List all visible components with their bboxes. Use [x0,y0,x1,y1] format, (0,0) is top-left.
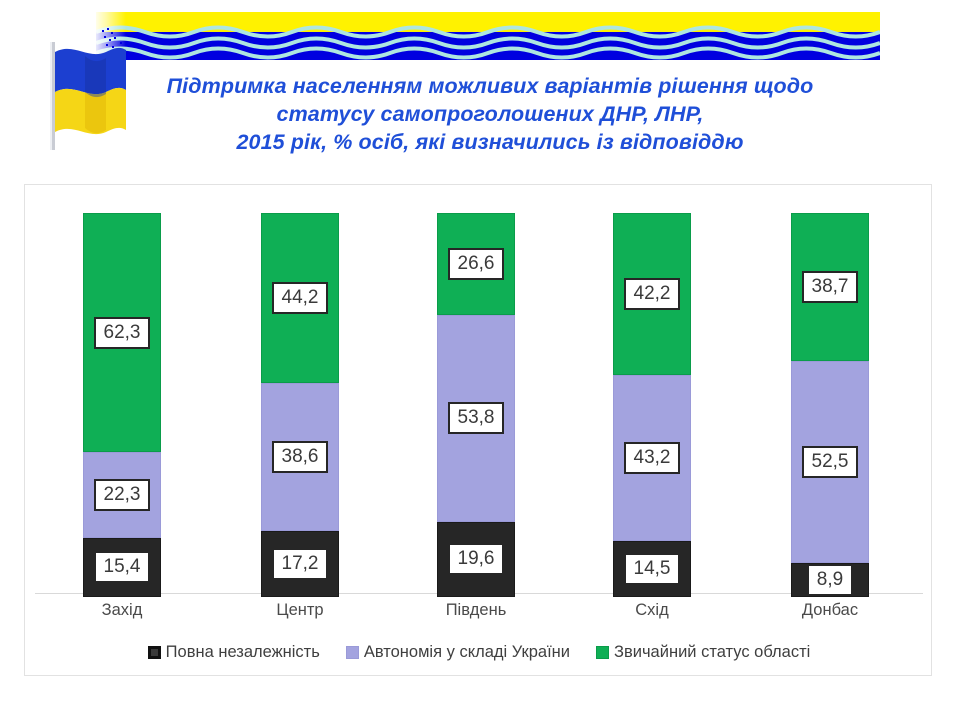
title-line-2: статусу самопроголошених ДНР, ЛНР, [110,100,870,128]
bar-segment[interactable]: 38,6 [261,383,339,531]
bar-segment[interactable]: 42,2 [613,213,691,375]
legend-label: Автономія у складі України [364,643,570,662]
bar-group-2[interactable]: 17,238,644,2 [261,213,339,597]
bar-segment[interactable]: 17,2 [261,531,339,597]
bar-value-label: 26,6 [448,248,505,280]
page-title: Підтримка населенням можливих варіантів … [110,72,870,156]
chart-legend: Повна незалежністьАвтономія у складі Укр… [25,637,933,667]
legend-swatch-icon [346,646,359,659]
legend-item-2[interactable]: Автономія у складі України [346,643,570,662]
legend-item-1[interactable]: Повна незалежність [148,643,320,662]
bar-value-label: 52,5 [802,446,859,478]
bar-value-label: 14,5 [624,553,681,585]
bar-segment[interactable]: 19,6 [437,522,515,597]
title-line-1: Підтримка населенням можливих варіантів … [110,72,870,100]
bar-value-label: 62,3 [94,317,151,349]
bar-group-4[interactable]: 14,543,242,2 [613,213,691,597]
bar-value-label: 42,2 [624,278,681,310]
legend-swatch-icon [596,646,609,659]
bar-segment[interactable]: 52,5 [791,361,869,563]
category-label-5: Донбас [760,601,900,620]
bar-segment[interactable]: 14,5 [613,541,691,597]
bar-group-1[interactable]: 15,422,362,3 [83,213,161,597]
plot-area: 15,422,362,317,238,644,219,653,826,614,5… [25,185,933,597]
bar-segment[interactable]: 53,8 [437,315,515,522]
banner-wave-lines [96,12,880,60]
chart-panel: 15,422,362,317,238,644,219,653,826,614,5… [24,184,932,676]
bar-value-label: 38,6 [272,441,329,473]
category-label-4: Схід [582,601,722,620]
bar-group-5[interactable]: 8,952,538,7 [791,213,869,597]
bar-segment[interactable]: 22,3 [83,452,161,538]
bar-value-label: 8,9 [807,564,853,596]
bar-value-label: 19,6 [448,543,505,575]
category-label-3: Південь [406,601,546,620]
category-label-1: Захід [52,601,192,620]
legend-item-3[interactable]: Звичайний статус області [596,643,810,662]
bar-value-label: 17,2 [272,548,329,580]
bar-value-label: 15,4 [94,551,151,583]
bar-segment[interactable]: 8,9 [791,563,869,597]
bar-value-label: 43,2 [624,442,681,474]
bar-value-label: 22,3 [94,479,151,511]
category-label-2: Центр [230,601,370,620]
bar-value-label: 53,8 [448,402,505,434]
bar-group-3[interactable]: 19,653,826,6 [437,213,515,597]
bar-segment[interactable]: 43,2 [613,375,691,541]
title-line-3: 2015 рік, % осіб, які визначились із від… [110,128,870,156]
bar-value-label: 38,7 [802,271,859,303]
bar-segment[interactable]: 26,6 [437,213,515,315]
bar-segment[interactable]: 62,3 [83,213,161,452]
legend-label: Повна незалежність [166,643,320,662]
category-axis-labels: ЗахідЦентрПівденьСхідДонбас [25,597,933,631]
bar-value-label: 44,2 [272,282,329,314]
decorative-banner [96,12,880,60]
legend-label: Звичайний статус області [614,643,810,662]
bar-segment[interactable]: 38,7 [791,213,869,362]
legend-swatch-icon [148,646,161,659]
bar-segment[interactable]: 44,2 [261,213,339,383]
bar-segment[interactable]: 15,4 [83,538,161,597]
